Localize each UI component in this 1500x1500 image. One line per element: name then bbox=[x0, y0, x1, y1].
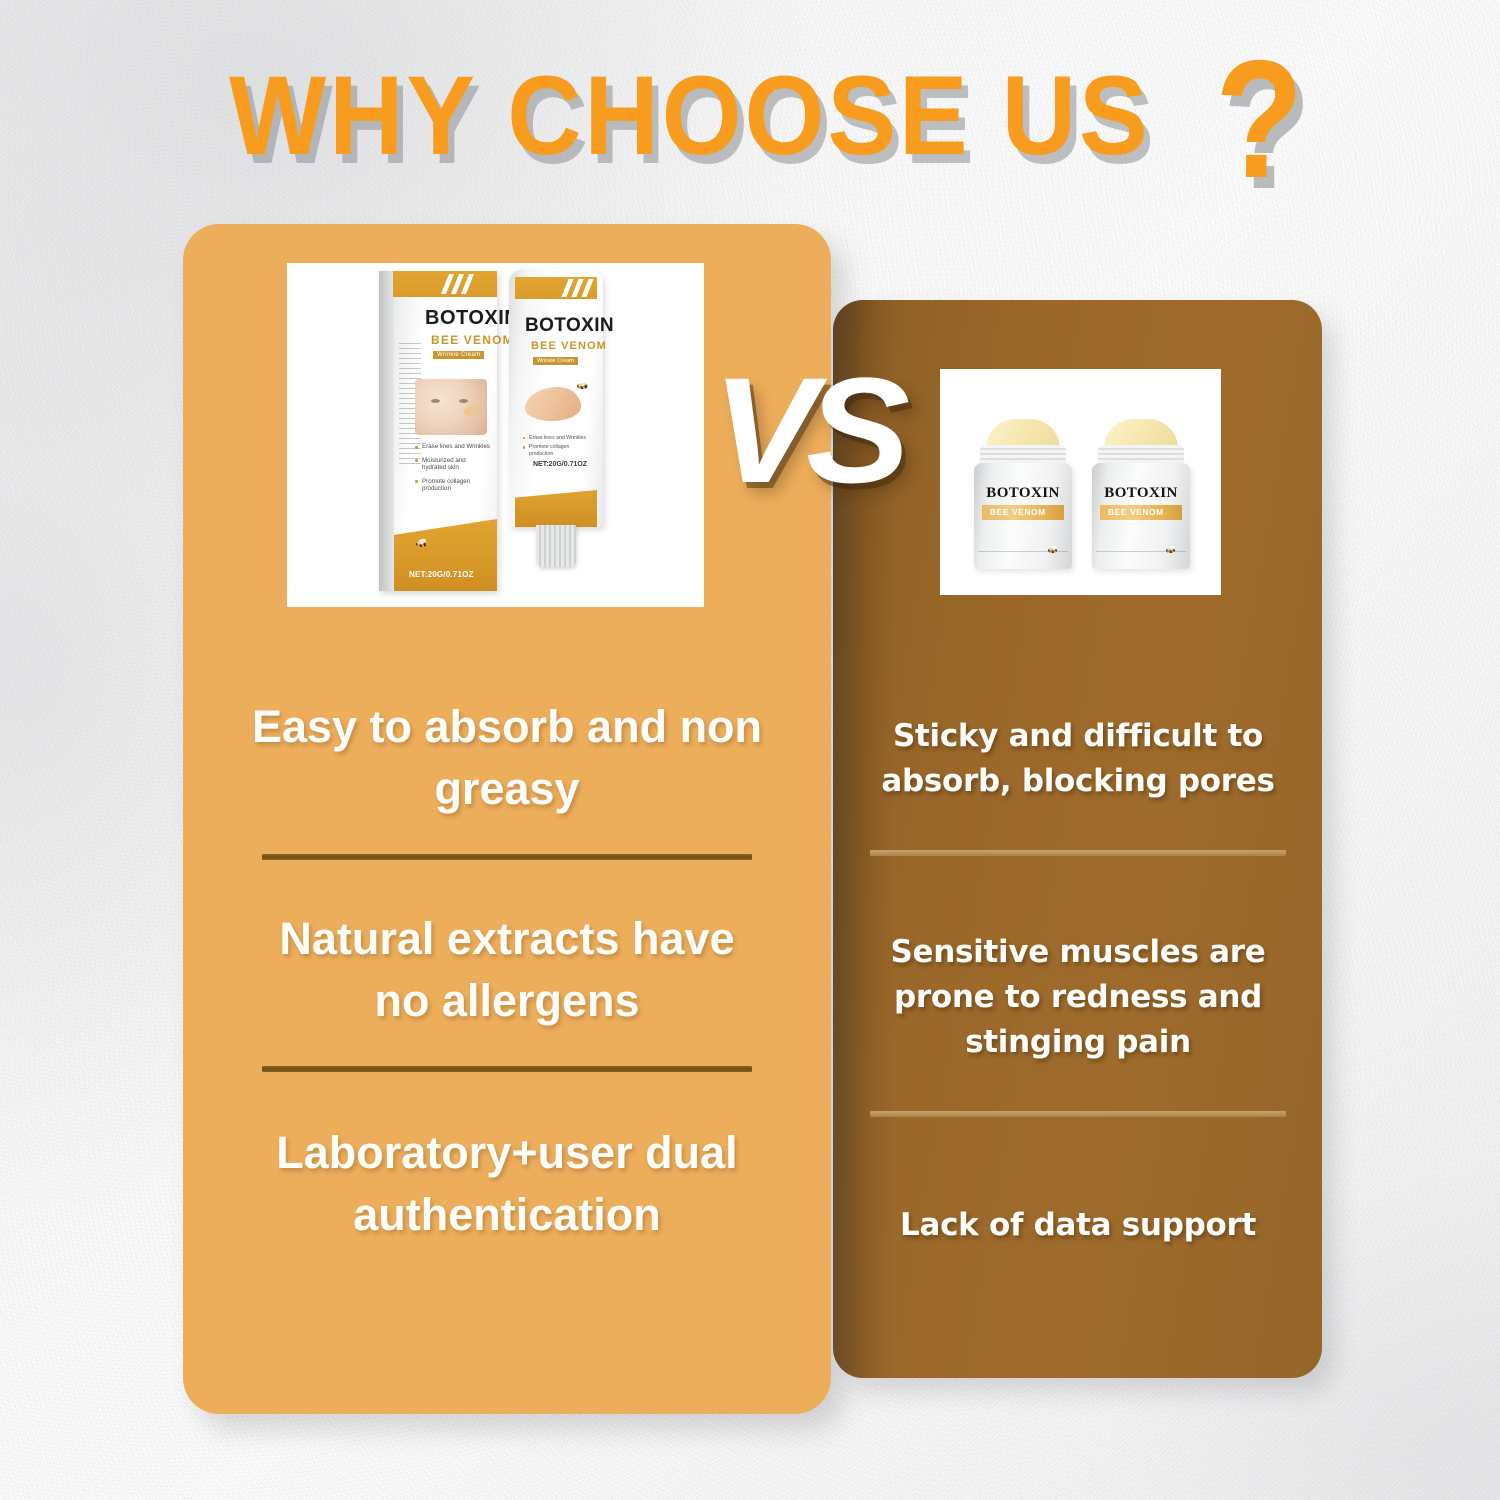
feature-text: Natural extracts have no allergens bbox=[246, 908, 768, 1032]
feature-text: Easy to absorb and non greasy bbox=[246, 696, 768, 820]
feature-divider bbox=[262, 1066, 752, 1072]
carton-bullet: Erase lines and Wrinkles bbox=[415, 443, 491, 451]
tube-shoulder bbox=[515, 485, 597, 527]
stick-seam bbox=[1096, 551, 1186, 552]
feature-divider bbox=[262, 854, 752, 860]
competitor-stick-2: BOTOXIN BEE VENOM bbox=[1088, 419, 1194, 569]
carton-subtitle-label: BEE VENOM bbox=[431, 333, 514, 347]
infographic-page: WHY CHOOSE US? BOTOXIN BEE VENOM bbox=[0, 0, 1500, 1500]
carton-top-band bbox=[393, 271, 497, 297]
stick-label-band: BEE VENOM bbox=[982, 505, 1064, 520]
feature-item: Easy to absorb and non greasy bbox=[246, 690, 768, 820]
tube-brand-label: BOTOXIN bbox=[525, 315, 614, 337]
page-title-text: WHY CHOOSE US bbox=[229, 51, 1150, 180]
tube-bullet: Erase lines and Wrinkles bbox=[523, 435, 593, 441]
stick-body: BOTOXIN BEE VENOM bbox=[1092, 463, 1190, 569]
feature-text: Sensitive muscles are prone to redness a… bbox=[862, 930, 1294, 1065]
cream-swatch bbox=[525, 387, 581, 421]
question-mark-icon: ? bbox=[1216, 44, 1304, 195]
stick-brand-label: BOTOXIN bbox=[1092, 485, 1190, 502]
carton-bottom-band bbox=[394, 519, 497, 591]
carton-brand-label: BOTOXIN bbox=[425, 307, 519, 330]
stick-subtitle-label: BEE VENOM bbox=[1108, 507, 1164, 517]
feature-item: Sticky and difficult to absorb, blocking… bbox=[862, 690, 1294, 804]
feature-item: Sensitive muscles are prone to redness a… bbox=[862, 908, 1294, 1065]
feature-text: Lack of data support bbox=[862, 1203, 1294, 1248]
carton-bullet: Promote collagen production bbox=[415, 478, 491, 493]
bee-icon bbox=[574, 381, 591, 391]
tube-bullet: Promote collagen production bbox=[523, 444, 593, 457]
tube-cap bbox=[536, 525, 576, 567]
feature-item: Natural extracts have no allergens bbox=[246, 900, 768, 1032]
feature-text: Laboratory+user dual authentication bbox=[246, 1122, 768, 1246]
tube-body: BOTOXIN BEE VENOM Wrinkle Cream Erase li… bbox=[509, 269, 603, 527]
carton-bullet-list: Erase lines and Wrinkles Moisturized and… bbox=[415, 443, 491, 499]
tube-subtitle-label: BEE VENOM bbox=[531, 340, 607, 352]
tube-top-band bbox=[515, 277, 597, 299]
feature-divider bbox=[870, 850, 1286, 856]
carton-net-weight-label: NET:20G/0.71OZ bbox=[409, 570, 474, 579]
stick-brand-label: BOTOXIN bbox=[974, 485, 1072, 502]
product-carton: BOTOXIN BEE VENOM Wrinkle Cream Erase li… bbox=[379, 271, 497, 591]
tube-net-weight-label: NET:20G/0.71OZ bbox=[533, 461, 587, 468]
tube-tag-label: Wrinkle Cream bbox=[533, 357, 578, 365]
tube-bullet-list: Erase lines and Wrinkles Promote collage… bbox=[523, 435, 593, 460]
model-face-image bbox=[415, 379, 487, 435]
stick-subtitle-label: BEE VENOM bbox=[990, 507, 1046, 517]
product-tube: BOTOXIN BEE VENOM Wrinkle Cream Erase li… bbox=[509, 269, 603, 569]
carton-bullet: Moisturized and hydrated skin bbox=[415, 457, 491, 472]
competitor-feature-list: Sticky and difficult to absorb, blocking… bbox=[862, 690, 1294, 1248]
stick-body: BOTOXIN BEE VENOM bbox=[974, 463, 1072, 569]
page-title: WHY CHOOSE US? bbox=[0, 40, 1500, 191]
competitor-product-photo: BOTOXIN BEE VENOM BOTOXIN BEE V bbox=[940, 369, 1221, 595]
feature-divider bbox=[870, 1111, 1286, 1117]
feature-item: Laboratory+user dual authentication bbox=[246, 1112, 768, 1246]
stick-label-band: BEE VENOM bbox=[1100, 505, 1182, 520]
carton-tag-label: Wrinkle Cream bbox=[433, 351, 484, 359]
vs-badge: VS bbox=[712, 355, 899, 505]
competitor-stick-1: BOTOXIN BEE VENOM bbox=[970, 419, 1076, 569]
bee-icon bbox=[413, 539, 430, 549]
our-product-photo: BOTOXIN BEE VENOM Wrinkle Cream Erase li… bbox=[287, 263, 704, 607]
carton-side-face bbox=[379, 271, 394, 591]
our-product-feature-list: Easy to absorb and non greasy Natural ex… bbox=[246, 690, 768, 1246]
feature-item: Lack of data support bbox=[862, 1169, 1294, 1248]
feature-text: Sticky and difficult to absorb, blocking… bbox=[862, 714, 1294, 804]
stick-seam bbox=[978, 551, 1068, 552]
